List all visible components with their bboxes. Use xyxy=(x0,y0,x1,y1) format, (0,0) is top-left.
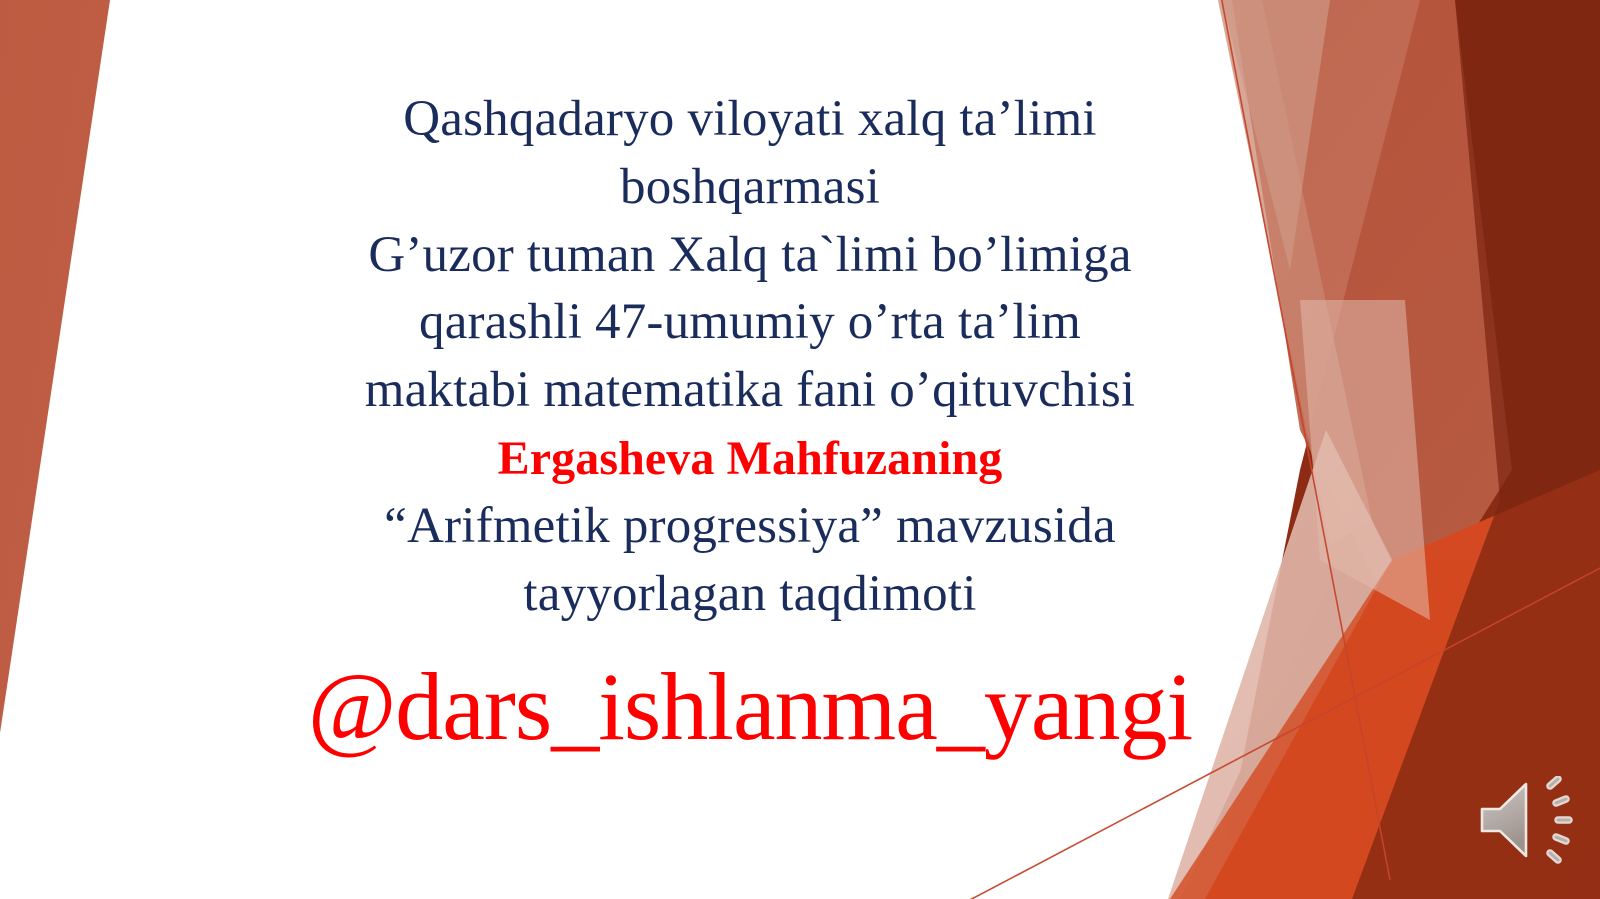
right-pale-highlight xyxy=(1300,300,1430,620)
organization-title: Qashqadaryo viloyati xalq ta’limi boshqa… xyxy=(250,86,1250,629)
subtitle-line-2: tayyorlagan taqdimoti xyxy=(250,561,1250,629)
right-dark-slab xyxy=(1215,0,1600,899)
author-name: Ergasheva Mahfuzaning xyxy=(250,425,1250,493)
right-medium-polygon xyxy=(1232,0,1512,640)
title-line-2: boshqarmasi xyxy=(250,154,1250,222)
title-line-1: Qashqadaryo viloyati xalq ta’limi xyxy=(250,86,1250,154)
right-edge-column xyxy=(1352,0,1600,899)
slide-text-content: Qashqadaryo viloyati xalq ta’limi boshqa… xyxy=(250,86,1250,758)
speaker-audio-icon[interactable] xyxy=(1478,776,1574,864)
left-accent-wedge xyxy=(0,0,110,733)
title-line-3: G’uzor tuman Xalq ta`limi bo’limiga xyxy=(250,222,1250,290)
title-line-4: qarashli 47-umumiy o’rta ta’lim xyxy=(250,289,1250,357)
title-line-5: maktabi matematika fani o’qituvchisi xyxy=(250,357,1250,425)
subtitle-line-1: “Arifmetik progressiya” mavzusida xyxy=(250,493,1250,561)
telegram-handle: @dars_ishlanma_yangi xyxy=(250,657,1250,758)
presentation-slide: Qashqadaryo viloyati xalq ta’limi boshqa… xyxy=(0,0,1600,899)
